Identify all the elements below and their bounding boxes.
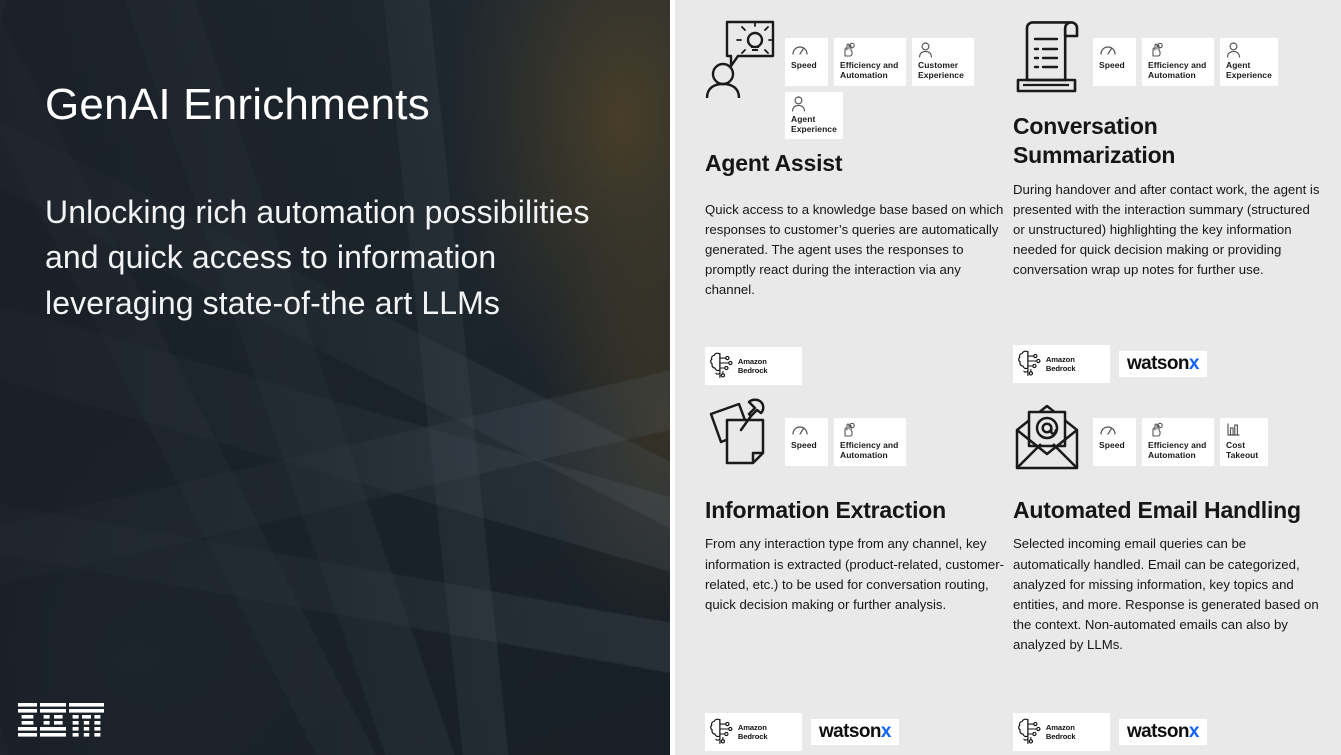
gauge-icon	[1099, 422, 1130, 439]
badge-efficiency-automation[interactable]: Efficiency and Automation	[834, 38, 906, 86]
badge-speed[interactable]: Speed	[1093, 38, 1136, 86]
watsonx-accent: x	[1189, 721, 1199, 742]
badge-cost-takeout[interactable]: Cost Takeout	[1220, 418, 1268, 466]
gauge-icon	[1099, 42, 1130, 59]
card-body: During handover and after contact work, …	[1013, 180, 1323, 280]
badge-agent-experience[interactable]: Agent Experience	[1220, 38, 1278, 86]
badge-group: Speed Efficiency and Automation	[1093, 398, 1323, 466]
hand-gear-icon	[1148, 422, 1208, 439]
scroll-document-icon	[1013, 18, 1087, 98]
badge-customer-experience[interactable]: Customer Experience	[912, 38, 974, 86]
badge-label: Agent Experience	[1226, 60, 1272, 81]
amazon-bedrock-label: Amazon Bedrock	[738, 723, 798, 741]
badge-speed[interactable]: Speed	[1093, 418, 1136, 466]
badge-label: Speed	[791, 60, 822, 70]
logo-group-automated-email-handling: Amazon Bedrock watsonx	[1013, 713, 1207, 751]
badge-speed[interactable]: Speed	[785, 38, 828, 86]
person-icon	[918, 42, 968, 59]
gauge-icon	[791, 42, 822, 59]
badge-group: Speed Efficiency and Automation	[785, 398, 1005, 466]
amazon-bedrock-logo: Amazon Bedrock	[1013, 345, 1110, 383]
open-envelope-at-icon	[1013, 398, 1087, 478]
watsonx-logo: watsonx	[811, 719, 899, 745]
card-agent-assist: Speed Efficiency and Automation	[705, 18, 1005, 300]
card-header: Speed Efficiency and Automation	[705, 398, 1005, 466]
badge-speed[interactable]: Speed	[785, 418, 828, 466]
badge-agent-experience[interactable]: Agent Experience	[785, 92, 843, 140]
card-body: From any interaction type from any chann…	[705, 534, 1005, 614]
logo-group-conversation-summarization: Amazon Bedrock watsonx	[1013, 345, 1207, 383]
badge-label: Efficiency and Automation	[1148, 60, 1208, 81]
person-icon	[791, 96, 837, 113]
page-subtitle: Unlocking rich automation possibilities …	[45, 190, 605, 326]
badge-label: Speed	[1099, 60, 1130, 70]
card-header: Speed Efficiency and Automation	[1013, 398, 1323, 466]
badge-group: Speed Efficiency and Automation	[785, 18, 1005, 139]
ibm-logo	[18, 703, 104, 737]
page-title: GenAI Enrichments	[45, 80, 645, 129]
slide-root: GenAI Enrichments Unlocking rich automat…	[0, 0, 1341, 755]
logo-group-agent-assist: Amazon Bedrock	[705, 347, 802, 385]
card-conversation-summarization: Speed Efficiency and Automation	[1013, 18, 1323, 280]
badge-efficiency-automation[interactable]: Efficiency and Automation	[834, 418, 906, 466]
badge-label: Efficiency and Automation	[1148, 440, 1208, 461]
amazon-bedrock-label: Amazon Bedrock	[1046, 355, 1106, 373]
watsonx-label: watson	[819, 721, 881, 742]
content-panel: Speed Efficiency and Automation	[675, 0, 1341, 755]
logo-group-information-extraction: Amazon Bedrock watsonx	[705, 713, 899, 751]
watsonx-label: watson	[1127, 353, 1189, 374]
card-title: Information Extraction	[705, 478, 1005, 525]
card-body: Quick access to a knowledge base based o…	[705, 200, 1005, 300]
bar-chart-icon	[1226, 422, 1262, 439]
person-icon	[1226, 42, 1272, 59]
card-header: Speed Efficiency and Automation	[1013, 18, 1323, 86]
hand-gear-icon	[1148, 42, 1208, 59]
person-with-idea-bubble-icon	[705, 18, 779, 98]
card-title: Automated Email Handling	[1013, 478, 1323, 525]
watsonx-logo: watsonx	[1119, 719, 1207, 745]
badge-label: Speed	[791, 440, 822, 450]
amazon-bedrock-logo: Amazon Bedrock	[1013, 713, 1110, 751]
watsonx-accent: x	[1189, 353, 1199, 374]
card-title: Agent Assist	[705, 139, 1005, 178]
badge-label: Efficiency and Automation	[840, 440, 900, 461]
watsonx-accent: x	[881, 721, 891, 742]
badge-group: Speed Efficiency and Automation	[1093, 18, 1323, 86]
amazon-bedrock-label: Amazon Bedrock	[1046, 723, 1106, 741]
hero-panel: GenAI Enrichments Unlocking rich automat…	[0, 0, 670, 755]
watsonx-logo: watsonx	[1119, 351, 1207, 377]
amazon-bedrock-logo: Amazon Bedrock	[705, 347, 802, 385]
badge-label: Efficiency and Automation	[840, 60, 900, 81]
amazon-bedrock-logo: Amazon Bedrock	[705, 713, 802, 751]
gauge-icon	[791, 422, 822, 439]
card-body: Selected incoming email queries can be a…	[1013, 534, 1323, 654]
badge-label: Cost Takeout	[1226, 440, 1262, 461]
amazon-bedrock-label: Amazon Bedrock	[738, 357, 798, 375]
card-information-extraction: Speed Efficiency and Automation Informat…	[705, 398, 1005, 615]
card-header: Speed Efficiency and Automation	[705, 18, 1005, 139]
hand-gear-icon	[840, 422, 900, 439]
watsonx-label: watson	[1127, 721, 1189, 742]
hand-gear-icon	[840, 42, 900, 59]
card-automated-email-handling: Speed Efficiency and Automation	[1013, 398, 1323, 655]
badge-efficiency-automation[interactable]: Efficiency and Automation	[1142, 418, 1214, 466]
badge-efficiency-automation[interactable]: Efficiency and Automation	[1142, 38, 1214, 86]
badge-label: Customer Experience	[918, 60, 968, 81]
badge-label: Speed	[1099, 440, 1130, 450]
badge-label: Agent Experience	[791, 114, 837, 135]
card-title: Conversation Summarization	[1013, 98, 1323, 171]
pinned-documents-icon	[705, 398, 779, 478]
